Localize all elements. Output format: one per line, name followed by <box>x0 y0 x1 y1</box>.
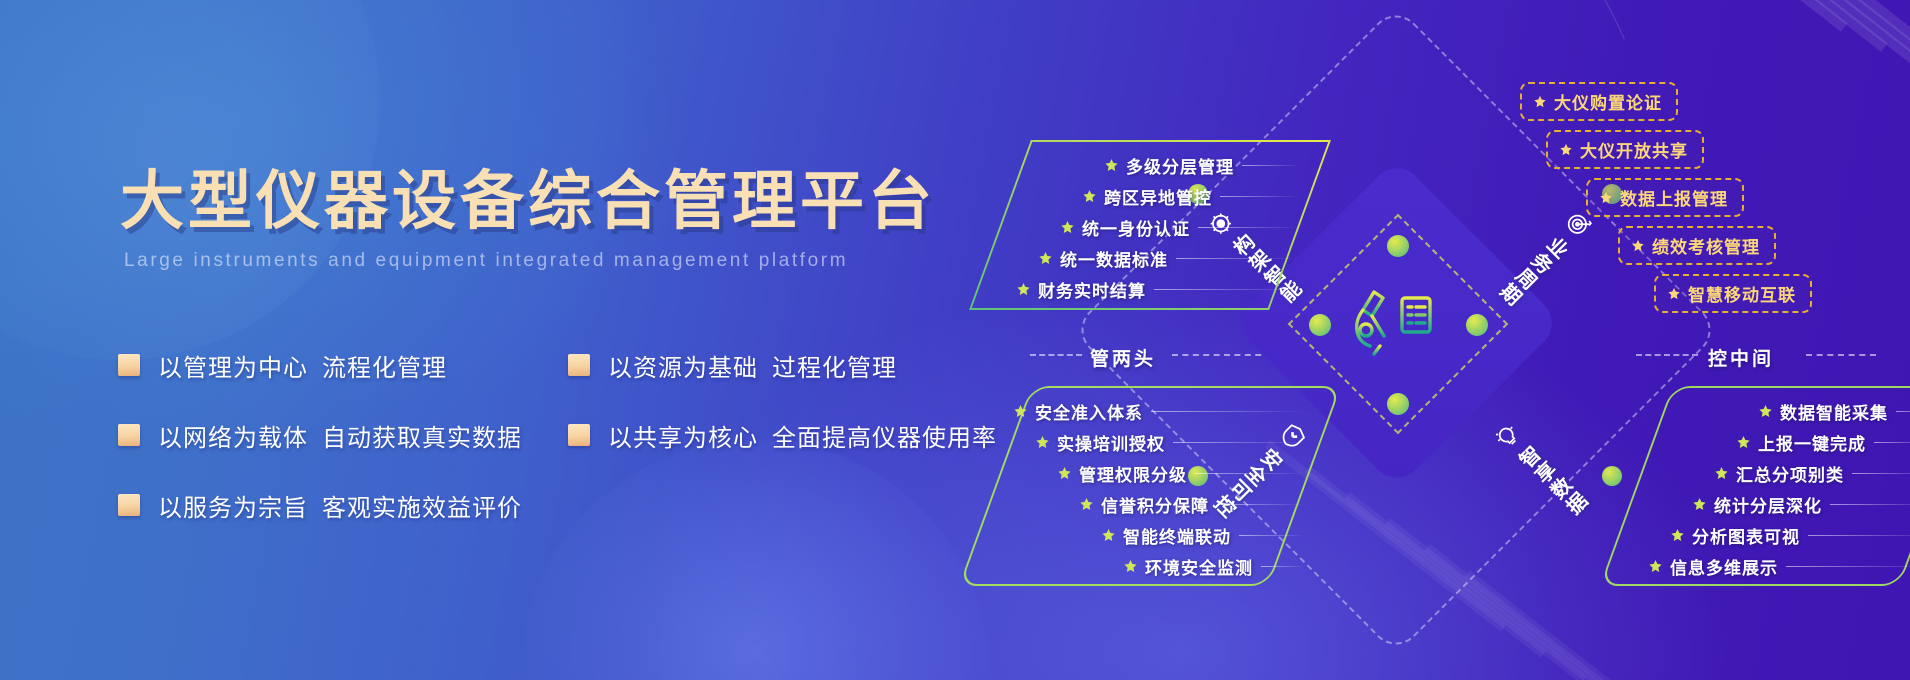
star-icon <box>1038 251 1053 266</box>
list-item-label: 汇总分项别类 <box>1736 461 1844 486</box>
list-item-label: 信誉积分保障 <box>1101 492 1209 517</box>
inner-node-dot <box>1466 314 1488 336</box>
star-icon <box>1533 95 1547 109</box>
page-title: 大型仪器设备综合管理平台 <box>120 150 936 242</box>
feature-list: 以管理为中心流程化管理 以资源为基础过程化管理 以网络为载体自动获取真实数据 以… <box>118 330 1018 540</box>
pill-badge[interactable]: 数据上报管理 <box>1586 178 1744 217</box>
feature-item: 以资源为基础过程化管理 <box>568 348 897 383</box>
list-item-label: 数据智能采集 <box>1780 399 1888 424</box>
list-item-label: 多级分层管理 <box>1126 153 1234 178</box>
feature-item: 以网络为载体自动获取真实数据 <box>118 418 568 453</box>
pill-badge[interactable]: 绩效考核管理 <box>1618 226 1776 265</box>
pill-label: 绩效考核管理 <box>1652 233 1760 258</box>
list-item[interactable]: 汇总分项别类 <box>1636 458 1910 489</box>
list-item-label: 信息多维展示 <box>1670 554 1778 579</box>
list-item-label: 管理权限分级 <box>1079 461 1187 486</box>
pill-label: 大仪购置论证 <box>1554 89 1662 114</box>
list-item-label: 统一身份认证 <box>1082 215 1190 240</box>
star-icon <box>1559 143 1573 157</box>
star-icon <box>1104 158 1119 173</box>
list-item-label: 安全准入体系 <box>1035 399 1143 424</box>
pill-badge[interactable]: 智慧移动互联 <box>1654 274 1812 313</box>
star-icon <box>1736 435 1751 450</box>
star-icon <box>1035 435 1050 450</box>
star-icon <box>1667 287 1681 301</box>
list-item[interactable]: 管理权限分级 <box>995 458 1305 489</box>
list-item[interactable]: 环境安全监测 <box>995 551 1305 582</box>
feature-label: 以资源为基础 <box>608 355 758 382</box>
star-icon <box>1013 404 1028 419</box>
pill-badge[interactable]: 大仪开放共享 <box>1546 130 1704 169</box>
star-icon <box>1123 559 1138 574</box>
list-item-label: 跨区异地管控 <box>1104 184 1212 209</box>
list-item[interactable]: 上报一键完成 <box>1636 427 1910 458</box>
axis-dash <box>1806 354 1876 356</box>
inner-node-dot <box>1387 235 1409 257</box>
feature-label: 以共享为核心 <box>608 425 758 452</box>
pill-label: 大仪开放共享 <box>1580 137 1688 162</box>
list-item-label: 统一数据标准 <box>1060 246 1168 271</box>
inner-node-dot <box>1309 314 1331 336</box>
list-item[interactable]: 信息多维展示 <box>1636 551 1910 582</box>
feature-row: 以网络为载体自动获取真实数据 以共享为核心全面提高仪器使用率 <box>118 400 1018 470</box>
list-item-label: 实操培训授权 <box>1057 430 1165 455</box>
list-item[interactable]: 统一身份认证 <box>1000 212 1300 243</box>
feature-label-secondary: 客观实施效益评价 <box>322 495 522 522</box>
list-item[interactable]: 智能终端联动 <box>995 520 1305 551</box>
feature-label: 以服务为宗旨 <box>158 495 308 522</box>
list-item-label: 分析图表可视 <box>1692 523 1800 548</box>
star-icon <box>1670 528 1685 543</box>
star-icon <box>1714 466 1729 481</box>
axis-label-right: 控中间 <box>1708 344 1774 371</box>
list-item[interactable]: 安全准入体系 <box>995 396 1305 427</box>
hero-text-block: 大型仪器设备综合管理平台 Large instruments and equip… <box>0 0 1020 680</box>
list-item-label: 上报一键完成 <box>1758 430 1866 455</box>
feature-label-secondary: 过程化管理 <box>772 355 897 382</box>
pill-badge[interactable]: 大仪购置论证 <box>1520 82 1678 121</box>
star-icon <box>1057 466 1072 481</box>
panel-security-controllable: 安全准入体系 实操培训授权 管理权限分级 信誉积分保障 <box>995 386 1305 586</box>
pill-label: 数据上报管理 <box>1620 185 1728 210</box>
bullet-icon <box>118 354 140 376</box>
list-item[interactable]: 数据智能采集 <box>1636 396 1910 427</box>
list-item-label: 财务实时结算 <box>1038 277 1146 302</box>
pill-label: 智慧移动互联 <box>1688 281 1796 306</box>
feature-row: 以管理为中心流程化管理 以资源为基础过程化管理 <box>118 330 1018 400</box>
panel-item-list: 多级分层管理 跨区异地管控 统一身份认证 统一数据标准 <box>1000 140 1300 310</box>
list-item[interactable]: 财务实时结算 <box>1000 274 1300 305</box>
list-item[interactable]: 多级分层管理 <box>1000 150 1300 181</box>
bullet-icon <box>118 494 140 516</box>
feature-label-secondary: 全面提高仪器使用率 <box>772 425 997 452</box>
star-icon <box>1599 191 1613 205</box>
panel-architecture-intelligence: 多级分层管理 跨区异地管控 统一身份认证 统一数据标准 <box>1000 140 1300 310</box>
architecture-diagram: 管两头 控中间 构架智能 <box>1020 0 1910 680</box>
list-item[interactable]: 统计分层深化 <box>1636 489 1910 520</box>
inner-node-dot <box>1387 393 1409 415</box>
microscope-icon <box>1350 284 1446 366</box>
axis-dash <box>1030 354 1082 356</box>
feature-item: 以服务为宗旨客观实施效益评价 <box>118 488 568 523</box>
list-item-label: 智能终端联动 <box>1123 523 1231 548</box>
list-item[interactable]: 跨区异地管控 <box>1000 181 1300 212</box>
list-item[interactable]: 分析图表可视 <box>1636 520 1910 551</box>
pill-badge-group: 大仪购置论证 大仪开放共享 数据上报管理 绩效考核管理 <box>1490 82 1910 322</box>
list-item-label: 环境安全监测 <box>1145 554 1253 579</box>
feature-item: 以共享为核心全面提高仪器使用率 <box>568 418 997 453</box>
panel-item-list: 安全准入体系 实操培训授权 管理权限分级 信誉积分保障 <box>995 386 1305 586</box>
star-icon <box>1101 528 1116 543</box>
bullet-icon <box>568 424 590 446</box>
feature-item: 以管理为中心流程化管理 <box>118 348 568 383</box>
star-icon <box>1060 220 1075 235</box>
hero-banner: 大型仪器设备综合管理平台 Large instruments and equip… <box>0 0 1910 680</box>
star-icon <box>1758 404 1773 419</box>
bullet-icon <box>568 354 590 376</box>
node-dot <box>1602 466 1622 486</box>
star-icon <box>1648 559 1663 574</box>
feature-label: 以网络为载体 <box>158 425 308 452</box>
list-item[interactable]: 实操培训授权 <box>995 427 1305 458</box>
feature-label: 以管理为中心 <box>158 355 308 382</box>
panel-item-list: 数据智能采集 上报一键完成 汇总分项别类 统计分层深化 <box>1636 386 1910 586</box>
feature-label-secondary: 自动获取真实数据 <box>322 425 522 452</box>
star-icon <box>1016 282 1031 297</box>
feature-row: 以服务为宗旨客观实施效益评价 <box>118 470 1018 540</box>
list-item[interactable]: 信誉积分保障 <box>995 489 1305 520</box>
bullet-icon <box>118 424 140 446</box>
list-item[interactable]: 统一数据标准 <box>1000 243 1300 274</box>
page-subtitle: Large instruments and equipment integrat… <box>124 250 848 272</box>
star-icon <box>1692 497 1707 512</box>
panel-smart-data: 数据智能采集 上报一键完成 汇总分项别类 统计分层深化 <box>1636 386 1910 586</box>
feature-label-secondary: 流程化管理 <box>322 355 447 382</box>
star-icon <box>1079 497 1094 512</box>
list-item-label: 统计分层深化 <box>1714 492 1822 517</box>
star-icon <box>1082 189 1097 204</box>
star-icon <box>1631 239 1645 253</box>
